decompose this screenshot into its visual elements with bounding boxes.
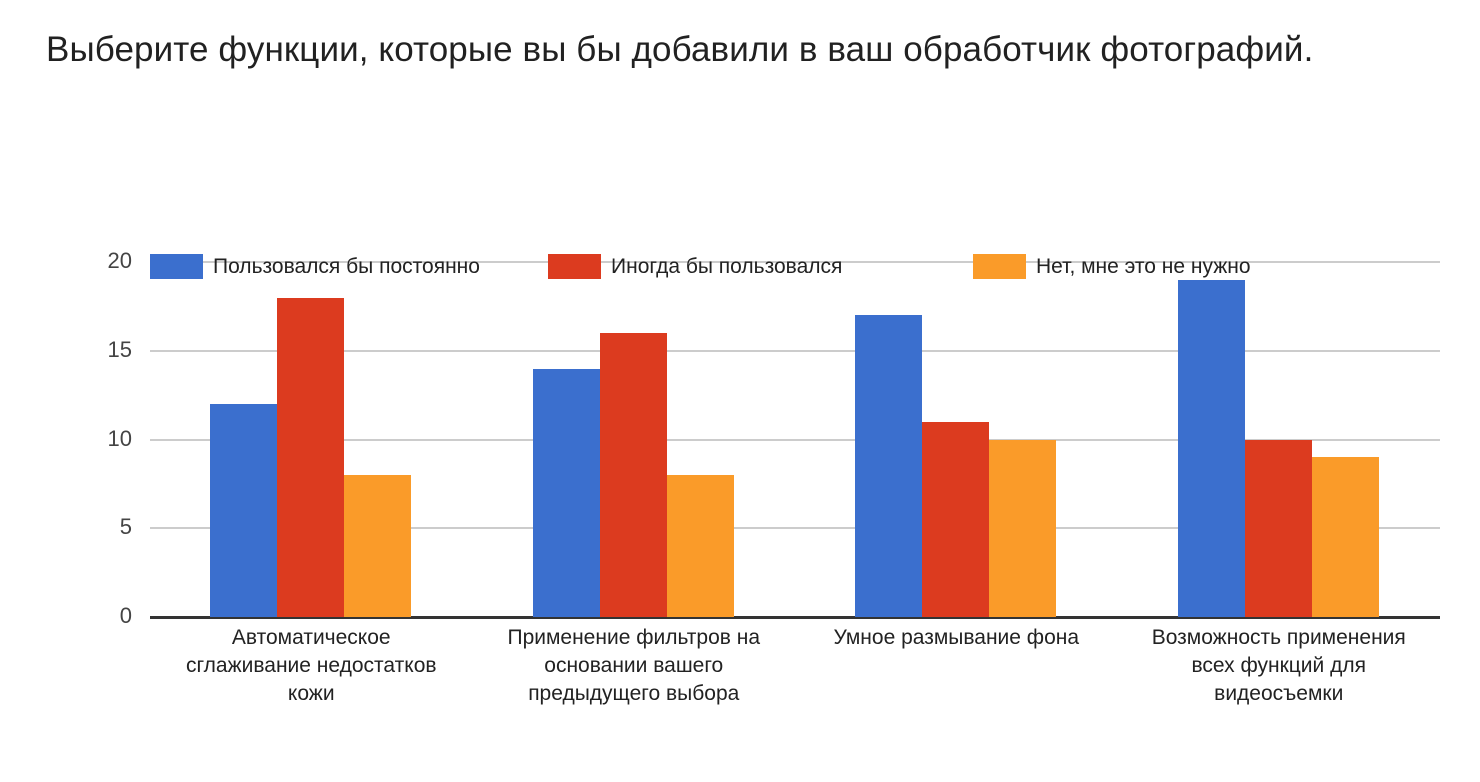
x-axis-category-label-line: Применение фильтров на: [473, 624, 796, 652]
x-axis-category-label: Возможность применениявсех функций дляви…: [1118, 624, 1441, 708]
legend-item[interactable]: Иногда бы пользовался: [548, 252, 842, 280]
x-axis-category-label: Умное размывание фона: [795, 624, 1118, 652]
x-axis-category-label-line: предыдущего выбора: [473, 680, 796, 708]
legend-swatch-icon: [150, 254, 203, 279]
legend-label: Иногда бы пользовался: [611, 256, 842, 277]
x-axis-category-label: Применение фильтров наосновании вашегопр…: [473, 624, 796, 708]
bar[interactable]: [855, 315, 922, 617]
bar[interactable]: [1245, 440, 1312, 618]
x-axis-labels: Автоматическоесглаживание недостатковкож…: [150, 624, 1440, 744]
bar[interactable]: [989, 440, 1056, 618]
legend-item[interactable]: Нет, мне это не нужно: [973, 252, 1251, 280]
y-axis-tick-label: 5: [72, 516, 132, 538]
bar[interactable]: [922, 422, 989, 617]
bar[interactable]: [667, 475, 734, 617]
bar[interactable]: [600, 333, 667, 617]
x-axis-category-label-line: основании вашего: [473, 652, 796, 680]
x-axis-category-label-line: Автоматическое: [150, 624, 473, 652]
legend-item[interactable]: Пользовался бы постоянно: [150, 252, 480, 280]
legend-swatch-icon: [548, 254, 601, 279]
x-axis-category-label-line: кожи: [150, 680, 473, 708]
y-axis-tick-label: 10: [72, 428, 132, 450]
x-axis-category-label-line: всех функций для: [1118, 652, 1441, 680]
legend-swatch-icon: [973, 254, 1026, 279]
legend-label: Нет, мне это не нужно: [1036, 256, 1251, 277]
bar[interactable]: [1312, 457, 1379, 617]
bar-series-container: [150, 262, 1440, 617]
y-axis-tick-label: 0: [72, 605, 132, 627]
legend-label: Пользовался бы постоянно: [213, 256, 480, 277]
y-axis-tick-label: 15: [72, 339, 132, 361]
x-axis-category-label: Автоматическоесглаживание недостатковкож…: [150, 624, 473, 708]
bar-chart: 05101520 Пользовался бы постоянноИногда …: [0, 0, 1480, 782]
x-axis-category-label-line: видеосъемки: [1118, 680, 1441, 708]
x-axis-category-label-line: Умное размывание фона: [795, 624, 1118, 652]
x-axis-category-label-line: сглаживание недостатков: [150, 652, 473, 680]
y-axis-tick-label: 20: [72, 250, 132, 272]
bar[interactable]: [533, 369, 600, 618]
bar[interactable]: [277, 298, 344, 618]
bar[interactable]: [1178, 280, 1245, 617]
bar[interactable]: [344, 475, 411, 617]
bar[interactable]: [210, 404, 277, 617]
x-axis-category-label-line: Возможность применения: [1118, 624, 1441, 652]
